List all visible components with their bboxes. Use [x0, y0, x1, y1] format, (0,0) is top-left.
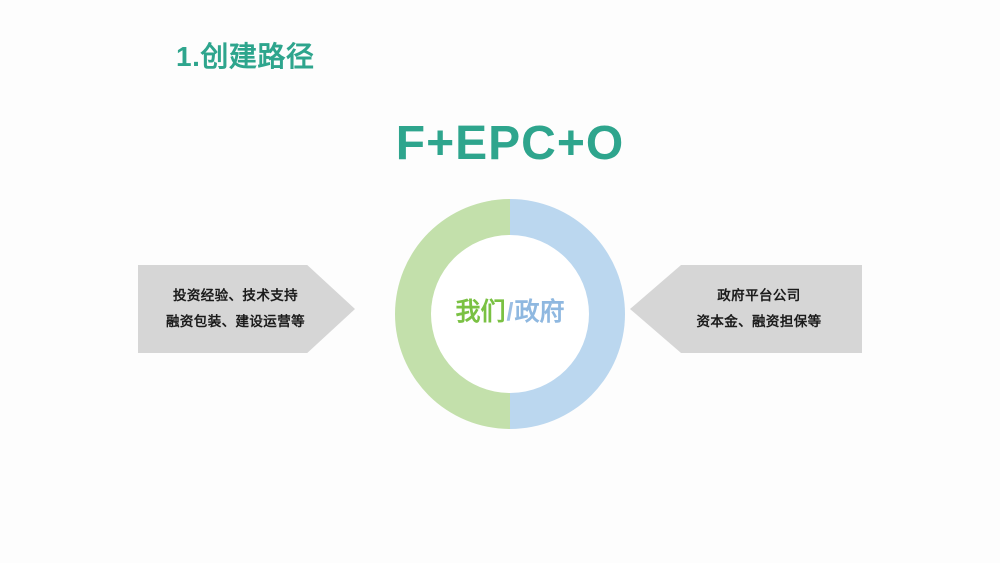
donut-center-label: 我们/政府 — [395, 297, 625, 327]
chevron-right-line-1: 政府平台公司 — [696, 283, 821, 309]
chevron-right-government: 政府平台公司 资本金、融资担保等 — [630, 265, 862, 353]
chevron-left-capabilities: 投资经验、技术支持 融资包装、建设运营等 — [138, 265, 355, 353]
chevron-left-line-2: 融资包装、建设运营等 — [166, 309, 305, 335]
chevron-right-line-2: 资本金、融资担保等 — [696, 309, 821, 335]
page-title: 1.创建路径 — [176, 42, 314, 73]
chevron-right-text: 政府平台公司 资本金、融资担保等 — [696, 283, 821, 335]
donut-label-gov: 政府 — [514, 298, 564, 326]
slide-canvas: 1.创建路径 F+EPC+O 投资经验、技术支持 融资包装、建设运营等 政府平台… — [0, 0, 1000, 563]
chevron-left-line-1: 投资经验、技术支持 — [166, 283, 305, 309]
main-heading: F+EPC+O — [0, 116, 1000, 171]
donut-chart: 我们/政府 — [395, 199, 625, 429]
chevron-left-text: 投资经验、技术支持 融资包装、建设运营等 — [166, 283, 305, 335]
donut-label-us: 我们 — [456, 298, 506, 326]
